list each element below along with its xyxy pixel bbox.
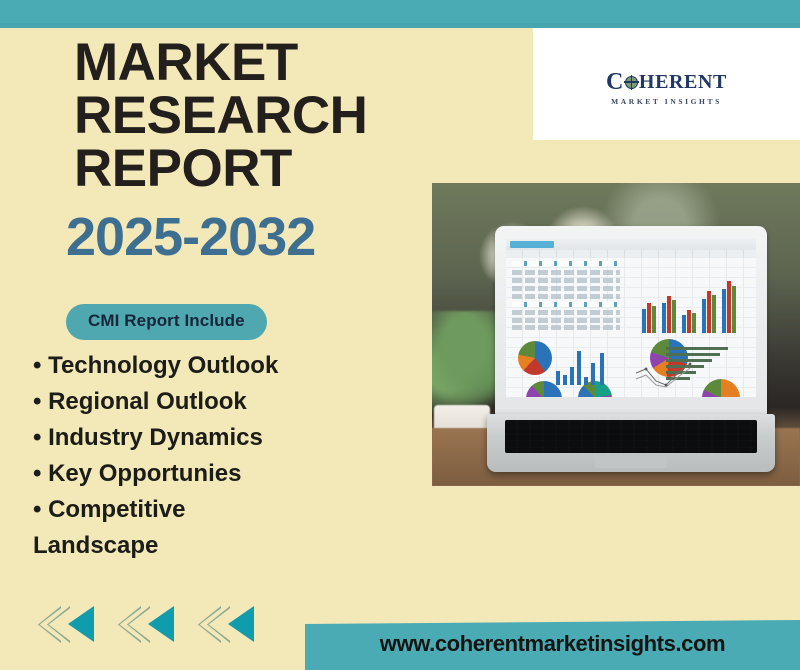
globe-icon bbox=[625, 76, 638, 89]
laptop-base bbox=[487, 414, 775, 472]
chevron-left-icon bbox=[118, 600, 182, 648]
logo-wordmark: C HERENT bbox=[606, 70, 727, 94]
dashboard-data-table bbox=[512, 261, 620, 329]
website-url-text[interactable]: www.coherentmarketinsights.com bbox=[380, 631, 725, 659]
laptop-trackpad bbox=[595, 456, 667, 468]
laptop-screen bbox=[506, 239, 756, 397]
list-item: • Industry Dynamics bbox=[33, 420, 413, 456]
dashboard-pie-chart bbox=[518, 341, 552, 375]
chevron-decoration bbox=[38, 600, 268, 648]
chevron-left-icon bbox=[198, 600, 262, 648]
report-inclusions-list: • Technology Outlook • Regional Outlook … bbox=[33, 348, 413, 564]
logo-tagline: MARKET INSIGHTS bbox=[606, 97, 727, 106]
logo-letters-herent: HERENT bbox=[639, 72, 727, 92]
dashboard-column-chart bbox=[638, 263, 738, 333]
ribbon-tab bbox=[510, 241, 554, 248]
website-url-bar[interactable]: www.coherentmarketinsights.com bbox=[305, 620, 800, 670]
page-title: MARKET RESEARCH REPORT bbox=[74, 36, 474, 195]
market-research-report-poster: C HERENT MARKET INSIGHTS MARKET RESEARCH… bbox=[0, 0, 800, 670]
dashboard-histogram bbox=[552, 345, 608, 385]
laptop-lid bbox=[495, 226, 767, 416]
report-year-range: 2025-2032 bbox=[66, 210, 315, 264]
laptop-keyboard bbox=[505, 420, 757, 453]
top-accent-bar bbox=[0, 0, 800, 28]
list-item: • Key Opportunies bbox=[33, 456, 413, 492]
status-badge: CMI Report Include bbox=[66, 304, 267, 340]
laptop bbox=[487, 226, 775, 478]
coherent-logo: C HERENT MARKET INSIGHTS bbox=[606, 70, 727, 106]
list-item: • Regional Outlook bbox=[33, 384, 413, 420]
logo-letter-c: C bbox=[606, 70, 624, 94]
chevron-left-icon bbox=[38, 600, 102, 648]
dashboard bbox=[506, 239, 756, 397]
list-item: • Competitive Landscape bbox=[33, 492, 413, 564]
list-item: • Technology Outlook bbox=[33, 348, 413, 384]
logo-panel: C HERENT MARKET INSIGHTS bbox=[533, 28, 800, 140]
laptop-dashboard-photo bbox=[432, 183, 800, 486]
dashboard-line-chart bbox=[634, 359, 694, 391]
